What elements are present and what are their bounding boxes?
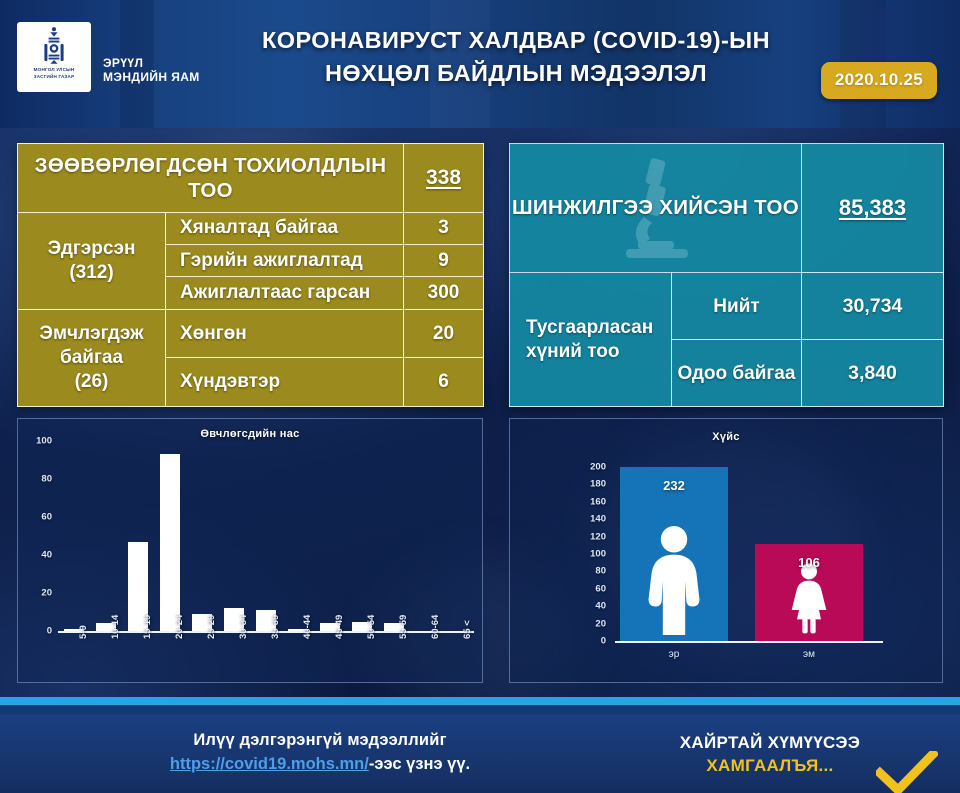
footer-slogan: ХАЙРТАЙ ХҮМҮҮСЭЭ ХАМГААЛЪЯ... xyxy=(655,733,885,776)
age-x-label: 65 < xyxy=(462,620,473,639)
cases-group-treated: Эмчлэгдэж байгаа (26) xyxy=(18,309,166,406)
age-x-label: 60-64 xyxy=(430,615,441,639)
age-chart-plot: 0204060801005-910-1415-1920-2425-2930-34… xyxy=(18,419,483,683)
sex-x-label: эм xyxy=(755,649,863,660)
sex-chart-panel: Хүйс 020406080100120140160180200 232эр 1… xyxy=(509,418,943,683)
age-x-label: 25-29 xyxy=(206,615,217,639)
ministry-name: ЭРҮҮЛ МЭНДИЙН ЯАМ xyxy=(103,56,200,84)
tests-header-value: 85,383 xyxy=(802,144,944,273)
soyombo-icon xyxy=(41,26,67,66)
age-x-label: 30-34 xyxy=(238,615,249,639)
age-x-label: 45-49 xyxy=(334,615,345,639)
sex-x-axis xyxy=(615,641,883,643)
sex-y-tick: 100 xyxy=(572,549,606,560)
sex-y-tick: 160 xyxy=(572,496,606,507)
cases-row-label: Ажиглалтаас гарсан xyxy=(166,277,404,309)
age-y-tick: 40 xyxy=(22,550,52,561)
age-x-label: 40-44 xyxy=(302,615,313,639)
table-row: ШИНЖИЛГЭЭ ХИЙСЭН ТОО 85,383 xyxy=(510,144,944,273)
sex-y-tick: 120 xyxy=(572,531,606,542)
sex-y-tick: 20 xyxy=(572,618,606,629)
sex-bar-value: 106 xyxy=(755,555,863,570)
sex-x-label: эр xyxy=(620,649,728,660)
male-figure-icon xyxy=(643,523,705,635)
age-y-tick: 100 xyxy=(22,436,52,447)
age-x-label: 5-9 xyxy=(78,625,89,639)
cases-group-treated-count: (26) xyxy=(19,370,164,394)
sex-y-tick: 80 xyxy=(572,566,606,577)
tests-table: ШИНЖИЛГЭЭ ХИЙСЭН ТОО 85,383 Тусгаарласан… xyxy=(509,143,944,407)
logo-caption-line1: МОНГОЛ УЛСЫН xyxy=(34,67,75,73)
age-x-label: 20-24 xyxy=(174,615,185,639)
female-figure-icon xyxy=(789,561,829,635)
slogan-line-2: ХАМГААЛЪЯ... xyxy=(655,756,885,776)
check-mark-icon xyxy=(876,751,938,793)
sex-bar xyxy=(620,467,728,641)
sex-y-tick: 200 xyxy=(572,462,606,473)
covid-site-link[interactable]: https://covid19.mohs.mn/ xyxy=(170,755,369,773)
age-x-label: 10-14 xyxy=(110,615,121,639)
isolation-label: Тусгаарласан хүний тоо xyxy=(510,273,672,407)
cases-row-label: Хөнгөн xyxy=(166,309,404,358)
page-footer: Илүү дэлгэрэнгүй мэдээллийг https://covi… xyxy=(0,715,960,793)
cases-row-value: 6 xyxy=(404,358,484,407)
sex-y-tick: 0 xyxy=(572,636,606,647)
table-row: Тусгаарласан хүний тоо Нийт 30,734 xyxy=(510,273,944,340)
cases-row-value: 20 xyxy=(404,309,484,358)
infographic-root: МОНГОЛ УЛСЫН ЗАСГИЙН ГАЗАР ЭРҮҮЛ МЭНДИЙН… xyxy=(0,0,960,793)
age-y-tick: 60 xyxy=(22,512,52,523)
table-row: Эдгэрсэн (312) Хяналтад байгаа 3 xyxy=(18,212,484,244)
page-title: КОРОНАВИРУСТ ХАЛДВАР (COVID-19)-ЫН НӨХЦӨ… xyxy=(196,24,836,90)
age-x-label: 50-54 xyxy=(366,615,377,639)
sex-y-tick: 180 xyxy=(572,479,606,490)
page-title-line-1: КОРОНАВИРУСТ ХАЛДВАР (COVID-19)-ЫН xyxy=(196,24,836,57)
age-chart-panel: Өвчлөгсдийн нас 0204060801005-910-1415-1… xyxy=(17,418,483,683)
footer-link-line: https://covid19.mohs.mn/-ээс үзнэ үү. xyxy=(0,755,640,774)
table-row: ЗӨӨВӨРЛӨГДСӨН ТОХИОЛДЛЫН ТОО 338 xyxy=(18,144,484,213)
logo-caption-line2: ЗАСГИЙН ГАЗАР xyxy=(34,74,75,80)
cases-table: ЗӨӨВӨРЛӨГДСӨН ТОХИОЛДЛЫН ТОО 338 Эдгэрсэ… xyxy=(17,143,484,407)
cases-row-label: Хяналтад байгаа xyxy=(166,212,404,244)
tests-row-value: 30,734 xyxy=(802,273,944,340)
cases-header-label: ЗӨӨВӨРЛӨГДСӨН ТОХИОЛДЛЫН ТОО xyxy=(18,144,404,213)
cases-group-recovered-name: Эдгэрсэн xyxy=(19,237,164,261)
cases-group-treated-name: Эмчлэгдэж байгаа xyxy=(19,322,164,370)
tests-row-label: Одоо байгаа xyxy=(672,340,802,407)
cases-row-label: Хүндэвтэр xyxy=(166,358,404,407)
header-band xyxy=(862,8,892,70)
ministry-line-1: ЭРҮҮЛ xyxy=(103,56,200,70)
slogan-line-1: ХАЙРТАЙ ХҮМҮҮСЭЭ xyxy=(655,733,885,753)
sex-chart-plot: 020406080100120140160180200 232эр 106эм xyxy=(510,419,943,683)
footer-divider-shadow xyxy=(0,705,960,715)
cases-row-label: Гэрийн ажиглалтад xyxy=(166,245,404,277)
age-x-label: 55-59 xyxy=(398,615,409,639)
age-x-label: 15-19 xyxy=(142,615,153,639)
cases-header-value: 338 xyxy=(404,144,484,213)
sex-y-tick: 60 xyxy=(572,583,606,594)
cases-row-value: 3 xyxy=(404,212,484,244)
tests-row-value: 3,840 xyxy=(802,340,944,407)
footer-link-suffix: -ээс үзнэ үү. xyxy=(369,755,470,773)
age-y-tick: 80 xyxy=(22,474,52,485)
age-y-tick: 0 xyxy=(22,626,52,637)
government-logo: МОНГОЛ УЛСЫН ЗАСГИЙН ГАЗАР xyxy=(17,22,91,92)
footer-info-line: Илүү дэлгэрэнгүй мэдээллийг xyxy=(0,731,640,750)
page-header: МОНГОЛ УЛСЫН ЗАСГИЙН ГАЗАР ЭРҮҮЛ МЭНДИЙН… xyxy=(0,0,960,128)
ministry-line-2: МЭНДИЙН ЯАМ xyxy=(103,70,200,84)
tests-row-label: Нийт xyxy=(672,273,802,340)
date-badge: 2020.10.25 xyxy=(821,62,937,99)
page-title-line-2: НӨХЦӨЛ БАЙДЛЫН МЭДЭЭЛЭЛ xyxy=(196,57,836,90)
sex-bar-value: 232 xyxy=(620,478,728,493)
tests-header-label: ШИНЖИЛГЭЭ ХИЙСЭН ТОО xyxy=(510,144,802,273)
cases-group-recovered: Эдгэрсэн (312) xyxy=(18,212,166,309)
footer-divider xyxy=(0,697,960,705)
cases-group-recovered-count: (312) xyxy=(19,261,164,285)
age-y-tick: 20 xyxy=(22,588,52,599)
sex-y-tick: 140 xyxy=(572,514,606,525)
table-row: Эмчлэгдэж байгаа (26) Хөнгөн 20 xyxy=(18,309,484,358)
age-x-label: 35-39 xyxy=(270,615,281,639)
cases-row-value: 300 xyxy=(404,277,484,309)
footer-info: Илүү дэлгэрэнгүй мэдээллийг https://covi… xyxy=(0,731,640,774)
sex-y-tick: 40 xyxy=(572,601,606,612)
age-bar xyxy=(160,454,180,631)
cases-row-value: 9 xyxy=(404,245,484,277)
